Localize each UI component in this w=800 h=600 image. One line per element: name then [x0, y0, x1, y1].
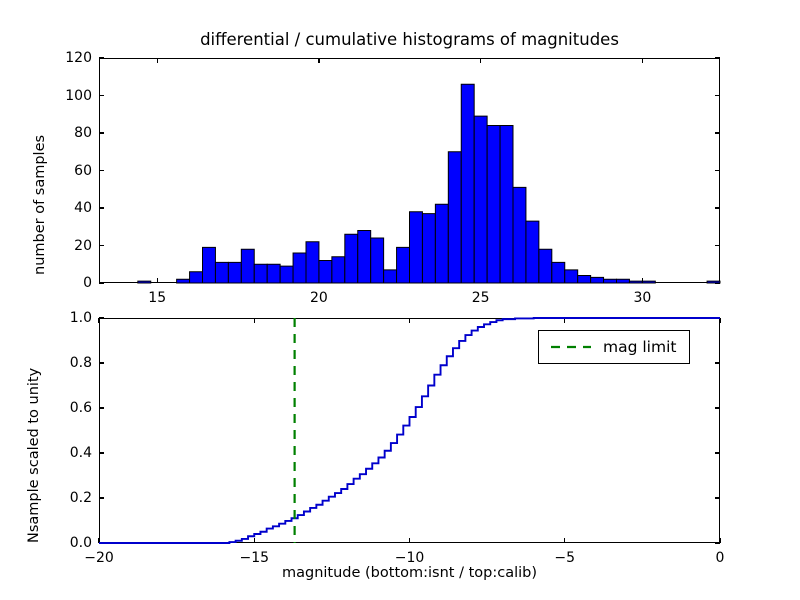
- maglimit-dashed-line-icon: [549, 341, 593, 353]
- legend: mag limit: [538, 330, 690, 364]
- figure: differential / cumulative histograms of …: [0, 0, 800, 600]
- x-axis-label: magnitude (bottom:isnt / top:calib): [99, 565, 720, 581]
- bottom-cumulative-curve: [0, 0, 800, 600]
- legend-label-mag-limit: mag limit: [603, 338, 676, 356]
